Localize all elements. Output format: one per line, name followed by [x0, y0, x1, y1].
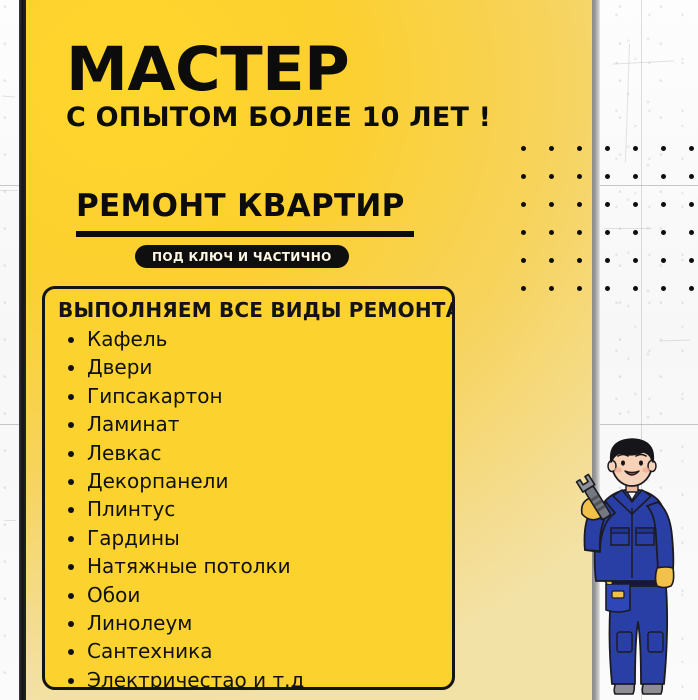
- page-title: МАСТЕР: [66, 40, 545, 100]
- decor-dot: [661, 202, 666, 207]
- decor-dot: [661, 174, 666, 179]
- panel-left-rail: [19, 0, 26, 700]
- decor-dot: [521, 202, 526, 207]
- service-list-item: Линолеум: [65, 609, 452, 637]
- wall-scratch: [660, 339, 690, 341]
- decor-dot: [521, 230, 526, 235]
- decor-dot: [549, 174, 554, 179]
- decor-dot: [549, 230, 554, 235]
- status-badge: ПОД КЛЮЧ И ЧАСТИЧНО: [135, 245, 349, 268]
- decor-dot: [661, 230, 666, 235]
- service-list-item: Левкас: [65, 439, 452, 467]
- decor-dot: [689, 258, 694, 263]
- decor-dot: [549, 286, 554, 291]
- poster-canvas: МАСТЕР С ОПЫТОМ БОЛЕЕ 10 ЛЕТ ! РЕМОНТ КВ…: [0, 0, 698, 700]
- decor-dot: [521, 174, 526, 179]
- decor-dot: [633, 258, 638, 263]
- decor-dot: [661, 146, 666, 151]
- wall-scratch: [612, 60, 674, 64]
- service-list-item: Декорпанели: [65, 467, 452, 495]
- decor-dot: [605, 286, 610, 291]
- service-list-item: Ламинат: [65, 410, 452, 438]
- decor-dot: [605, 258, 610, 263]
- section-heading-block: РЕМОНТ КВАРТИР: [76, 188, 476, 237]
- wall-scratch: [604, 228, 652, 229]
- section-title: РЕМОНТ КВАРТИР: [76, 188, 476, 224]
- wall-scratch: [4, 520, 16, 521]
- decor-dot: [577, 230, 582, 235]
- decor-dot: [549, 202, 554, 207]
- decor-dot: [577, 286, 582, 291]
- decor-dot: [521, 146, 526, 151]
- service-list-item: Обои: [65, 581, 452, 609]
- decor-dot: [633, 146, 638, 151]
- decor-dot: [689, 174, 694, 179]
- decor-dot: [633, 230, 638, 235]
- services-card-title: ВЫПОЛНЯЕМ ВСЕ ВИДЫ РЕМОНТА:: [58, 298, 452, 322]
- worker-illustration: [566, 436, 698, 700]
- service-list-item: Кафель: [65, 325, 452, 353]
- wall-scratch: [2, 96, 15, 98]
- decor-dot: [633, 286, 638, 291]
- decor-dot: [521, 258, 526, 263]
- headline-block: МАСТЕР С ОПЫТОМ БОЛЕЕ 10 ЛЕТ !: [66, 40, 536, 131]
- service-list-item: Плинтус: [65, 495, 452, 523]
- decor-dot: [689, 286, 694, 291]
- decor-dot: [689, 146, 694, 151]
- decor-dot: [605, 146, 610, 151]
- decor-dot: [661, 286, 666, 291]
- decor-dot: [549, 146, 554, 151]
- decor-dot: [605, 202, 610, 207]
- service-list-item: Гардины: [65, 524, 452, 552]
- decor-dot: [633, 174, 638, 179]
- decor-dot: [577, 202, 582, 207]
- section-underline: [76, 231, 414, 237]
- service-list-item: Электричестао и т.д: [65, 666, 452, 690]
- services-card: ВЫПОЛНЯЕМ ВСЕ ВИДЫ РЕМОНТА: КафельДвериГ…: [42, 286, 455, 690]
- decor-dot: [521, 286, 526, 291]
- decor-dot: [549, 258, 554, 263]
- decor-dot: [689, 202, 694, 207]
- decor-dot: [577, 174, 582, 179]
- decor-dot: [577, 146, 582, 151]
- decor-dot: [689, 230, 694, 235]
- service-list-item: Гипсакартон: [65, 382, 452, 410]
- service-list-item: Двери: [65, 353, 452, 381]
- services-list: КафельДвериГипсакартонЛаминатЛевкасДекор…: [45, 325, 452, 690]
- decor-dot: [605, 230, 610, 235]
- decor-dot: [633, 202, 638, 207]
- page-subtitle: С ОПЫТОМ БОЛЕЕ 10 ЛЕТ !: [66, 104, 536, 131]
- decor-dot: [661, 258, 666, 263]
- service-list-item: Сантехника: [65, 637, 452, 665]
- wall-scratch: [0, 190, 18, 191]
- decor-dot: [605, 174, 610, 179]
- decor-dot: [577, 258, 582, 263]
- wall-scratch: [625, 44, 630, 162]
- service-list-item: Натяжные потолки: [65, 552, 452, 580]
- status-badge-label: ПОД КЛЮЧ И ЧАСТИЧНО: [152, 250, 332, 264]
